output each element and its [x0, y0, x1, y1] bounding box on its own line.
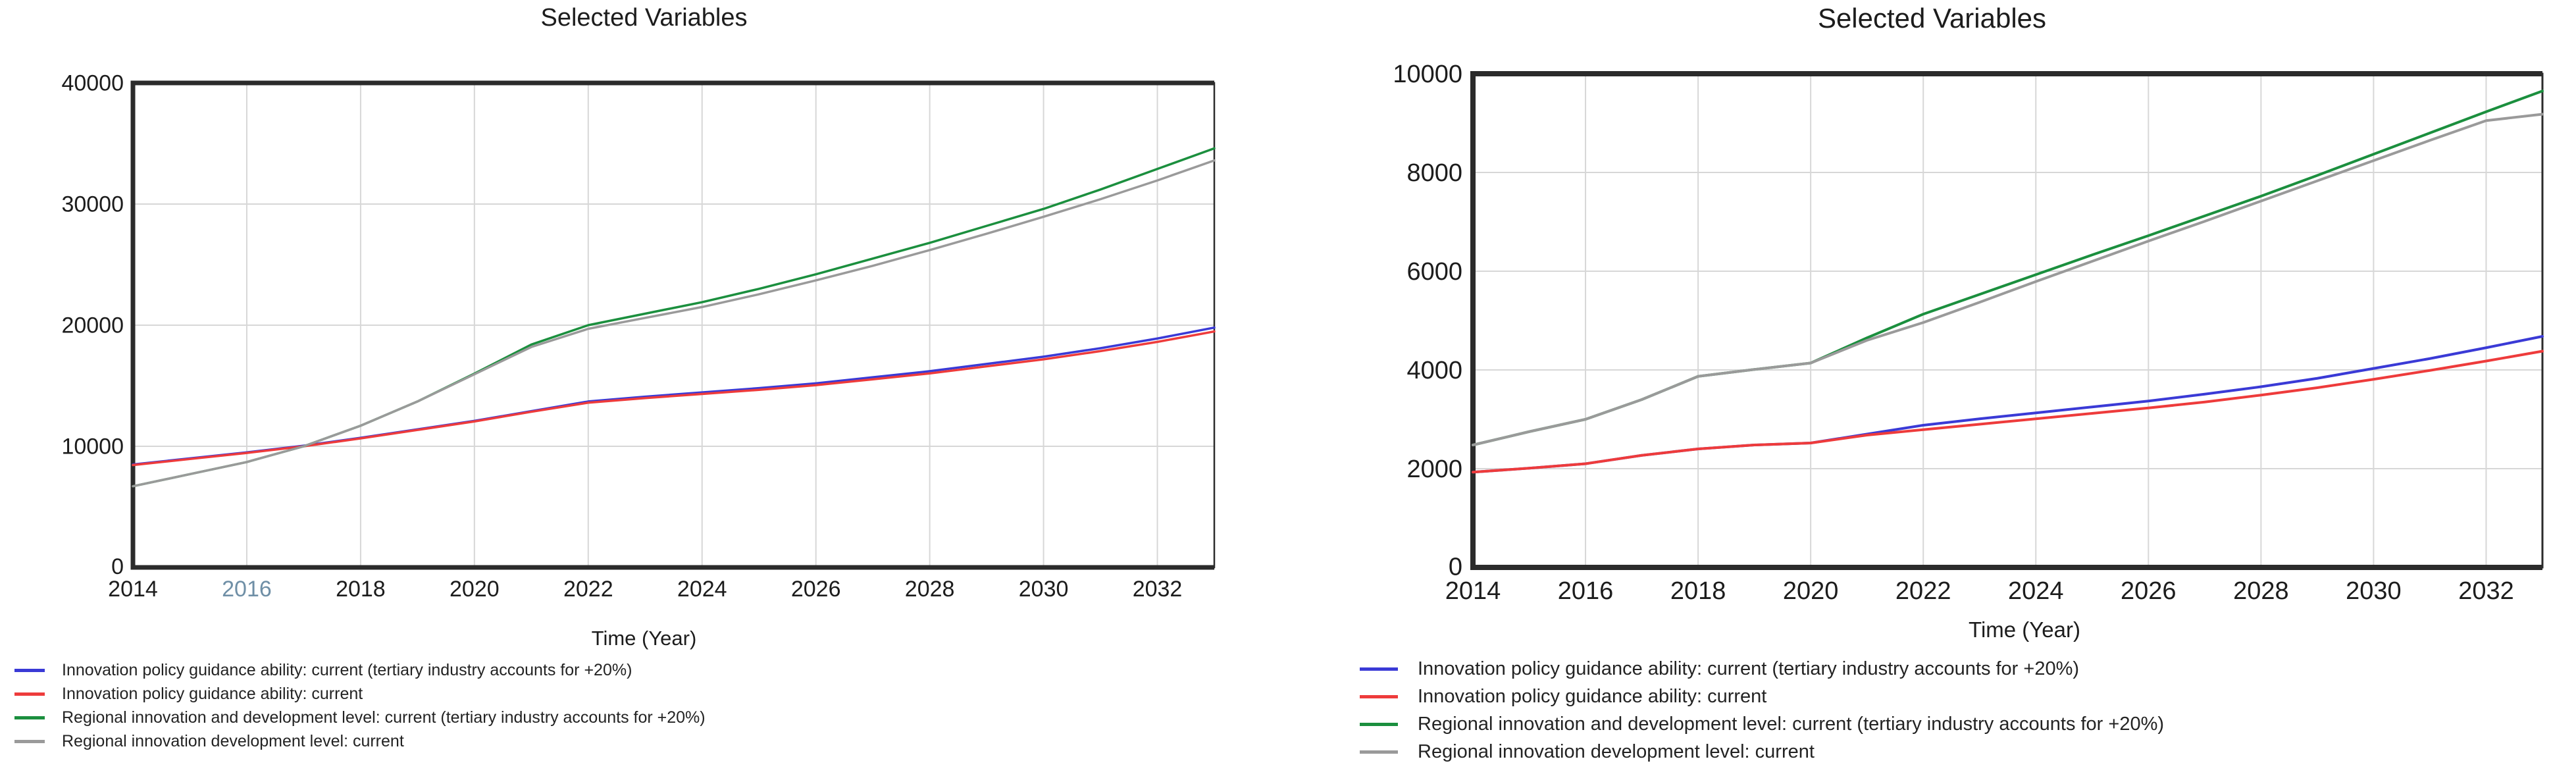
x-tick-label: 2026: [2121, 577, 2177, 605]
legend-swatch-gray-icon: [14, 740, 45, 743]
plot-area-right: 0200040006000800010000201420162018202020…: [1288, 0, 2576, 685]
y-tick-label: 4000: [1406, 357, 1462, 384]
x-tick-label: 2018: [1670, 577, 1726, 605]
x-tick-label: 2028: [905, 577, 955, 602]
y-tick-label: 8000: [1406, 159, 1462, 187]
x-tick-label: 2020: [1783, 577, 1839, 605]
series-line-0: [1473, 336, 2542, 472]
series-line-1: [133, 332, 1214, 465]
legend-label: Regional innovation development level: c…: [62, 732, 404, 751]
x-tick-label: 2024: [677, 577, 727, 602]
y-tick-label: 10000: [1393, 61, 1462, 88]
series-line-3: [1473, 115, 2542, 446]
legend-label: Innovation policy guidance ability: curr…: [1418, 658, 2079, 680]
legend-item: Regional innovation and development leve…: [14, 706, 706, 729]
x-tick-label: 2032: [1133, 577, 1183, 602]
legend-item: Regional innovation development level: c…: [14, 729, 706, 753]
legend-swatch-gray-icon: [1360, 750, 1398, 754]
y-tick-label: 2000: [1406, 456, 1462, 483]
legend-item: Regional innovation development level: c…: [1360, 738, 2164, 766]
legend-swatch-red-icon: [14, 692, 45, 696]
x-tick-label: 2032: [2458, 577, 2514, 605]
legend-left: Innovation policy guidance ability: curr…: [14, 658, 706, 753]
legend-item: Innovation policy guidance ability: curr…: [1360, 683, 2164, 710]
x-tick-label: 2026: [791, 577, 841, 602]
dual-chart-figure: Selected Variables 010000200003000040000…: [0, 0, 2576, 782]
y-tick-label: 0: [111, 554, 124, 579]
x-tick-label: 2022: [1895, 577, 1951, 605]
legend-label: Innovation policy guidance ability: curr…: [62, 685, 363, 704]
legend-label: Regional innovation and development leve…: [62, 708, 706, 727]
plot-frame: [1473, 74, 2542, 567]
y-tick-label: 20000: [61, 313, 124, 338]
x-tick-label: 2024: [2008, 577, 2064, 605]
x-tick-label: 2030: [1019, 577, 1069, 602]
series-line-2: [1473, 91, 2542, 445]
x-tick-label: 2022: [563, 577, 613, 602]
x-tick-label: 2016: [222, 577, 272, 602]
legend-right: Innovation policy guidance ability: curr…: [1360, 655, 2164, 766]
x-tick-label: 2014: [108, 577, 158, 602]
legend-item: Innovation policy guidance ability: curr…: [14, 682, 706, 706]
legend-label: Regional innovation development level: c…: [1418, 741, 1815, 763]
legend-swatch-blue-icon: [1360, 667, 1398, 671]
legend-swatch-green-icon: [14, 716, 45, 719]
x-tick-label: 2018: [336, 577, 386, 602]
plot-area-left: 0100002000030000400002014201620182020202…: [0, 0, 1288, 685]
chart-panel-left: Selected Variables 010000200003000040000…: [0, 0, 1288, 782]
x-tick-label: 2028: [2233, 577, 2289, 605]
y-tick-label: 6000: [1406, 258, 1462, 286]
legend-label: Innovation policy guidance ability: curr…: [62, 661, 632, 680]
legend-swatch-red-icon: [1360, 695, 1398, 698]
chart-panel-right: Selected Variables 020004000600080001000…: [1288, 0, 2576, 782]
legend-swatch-blue-icon: [14, 669, 45, 672]
series-line-3: [133, 161, 1214, 486]
x-tick-label: 2020: [450, 577, 500, 602]
y-tick-label: 10000: [61, 434, 124, 459]
legend-swatch-green-icon: [1360, 723, 1398, 726]
x-axis-title-right: Time (Year): [1473, 617, 2576, 642]
legend-item: Innovation policy guidance ability: curr…: [1360, 655, 2164, 683]
x-tick-label: 2014: [1445, 577, 1501, 605]
y-tick-label: 40000: [61, 71, 124, 96]
x-axis-title-left: Time (Year): [0, 627, 1288, 650]
y-tick-label: 30000: [61, 192, 124, 217]
x-tick-label: 2030: [2346, 577, 2402, 605]
legend-item: Innovation policy guidance ability: curr…: [14, 658, 706, 682]
legend-item: Regional innovation and development leve…: [1360, 710, 2164, 738]
legend-label: Innovation policy guidance ability: curr…: [1418, 686, 1766, 708]
x-tick-label: 2016: [1558, 577, 1614, 605]
series-line-2: [133, 148, 1214, 486]
legend-label: Regional innovation and development leve…: [1418, 714, 2164, 735]
